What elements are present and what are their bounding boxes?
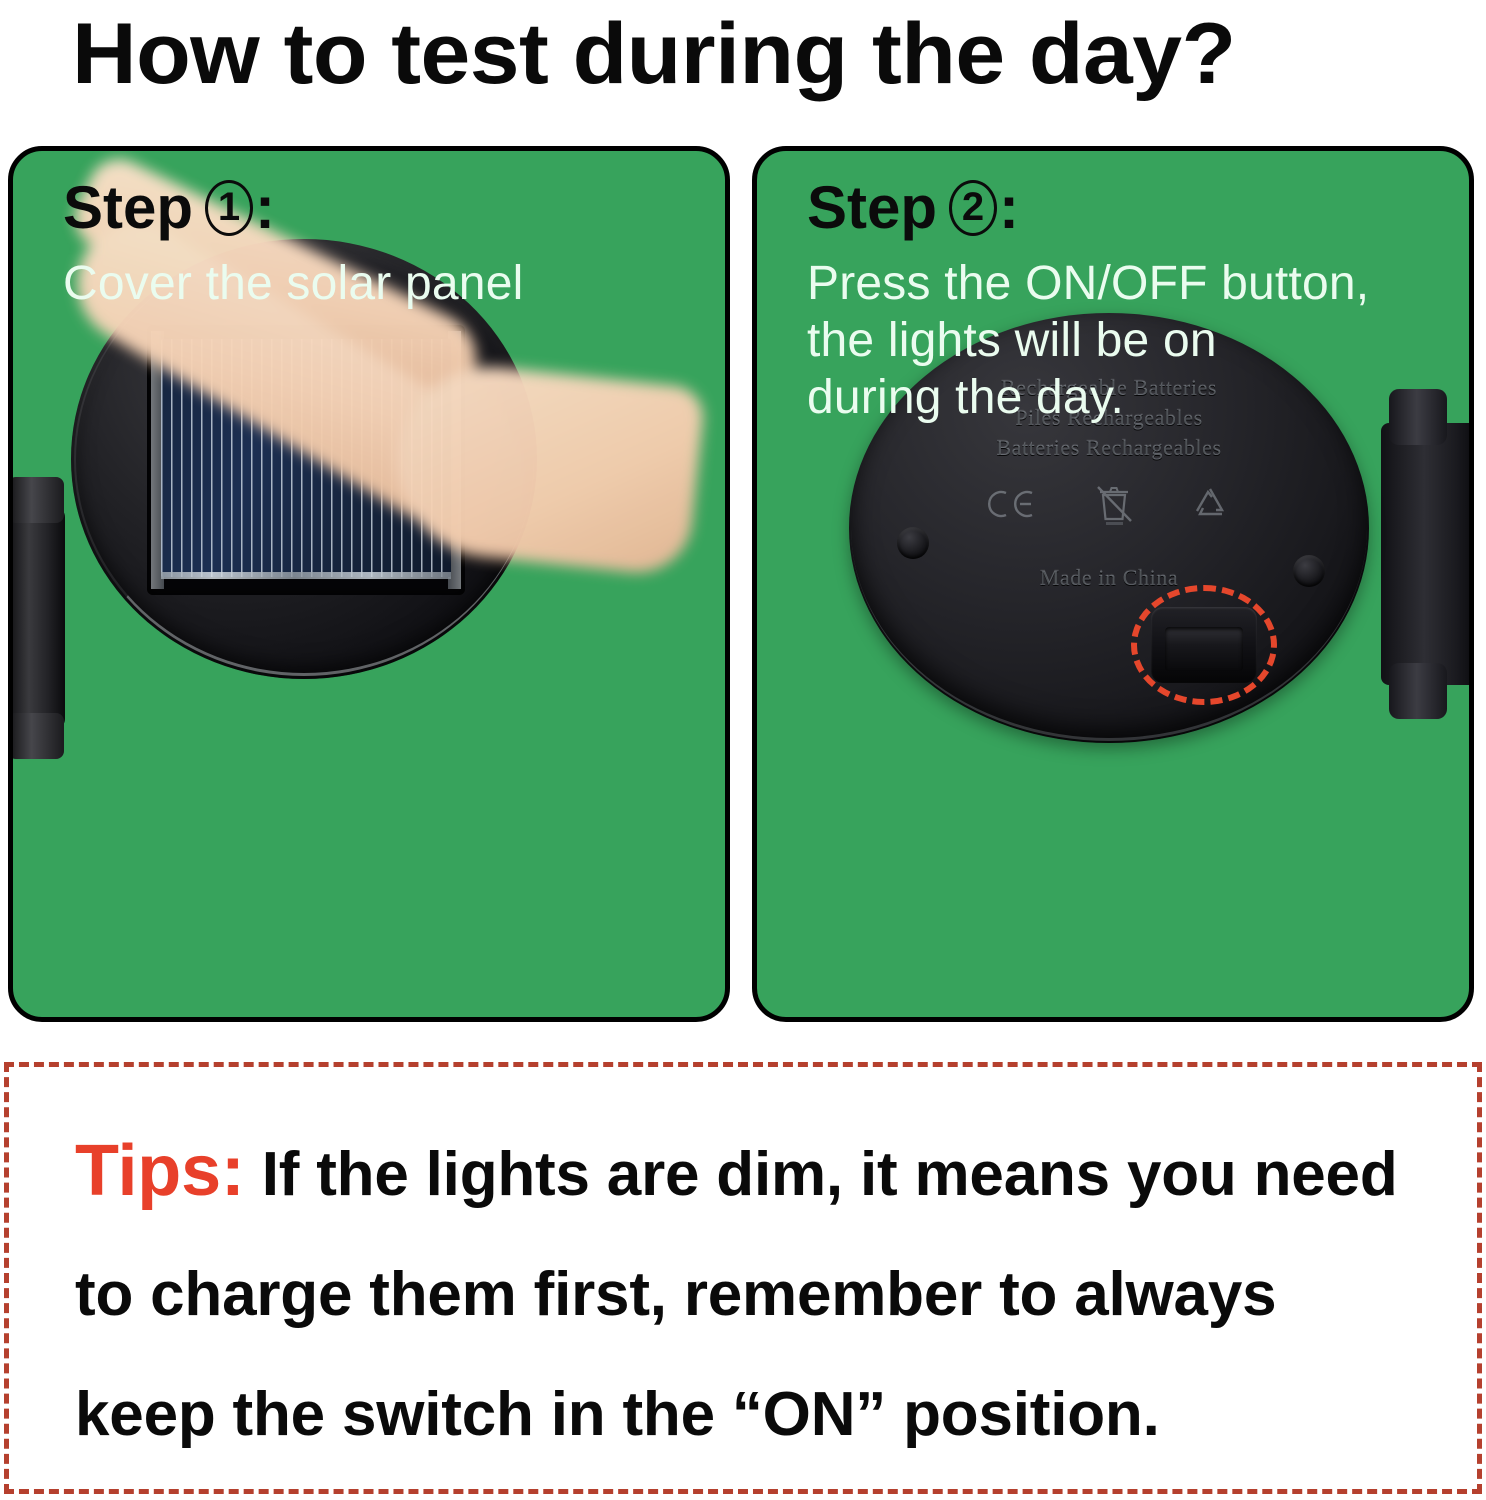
compliance-symbols-row [849, 481, 1369, 527]
step-2-panel: Rechargeable Batteries Piles Rechargeabl… [752, 146, 1474, 1022]
ce-mark-icon [986, 487, 1040, 521]
step-2-number-badge: 2 [949, 180, 997, 236]
step-2-label: Step [807, 171, 937, 245]
step-2-colon: : [999, 171, 1019, 245]
step-2-body: Press the ON/OFF button, the lights will… [807, 255, 1447, 426]
step-1-panel: Step 1 : Cover the solar panel [8, 146, 730, 1022]
tips-line-1: Tips: If the lights are dim, it means yo… [75, 1111, 1435, 1235]
step-1-number-badge: 1 [205, 180, 253, 236]
emboss-line-3: Batteries Rechargeables [849, 435, 1369, 461]
recycling-triangle-icon [1188, 484, 1232, 524]
step-2-body-line-3: during the day. [807, 369, 1447, 426]
made-in-china-text: Made in China [849, 565, 1369, 591]
step-2-heading: Step 2 : [807, 171, 1019, 245]
tips-box: Tips: If the lights are dim, it means yo… [4, 1062, 1482, 1494]
mounting-bracket-icon [1381, 423, 1474, 685]
tips-content: Tips: If the lights are dim, it means yo… [75, 1111, 1435, 1475]
step-1-colon: : [255, 171, 275, 245]
screw-hole-right [1293, 555, 1325, 587]
tips-line-3: keep the switch in the “ON” position. [75, 1355, 1435, 1475]
tips-label: Tips: [75, 1131, 245, 1211]
step-2-body-line-1: Press the ON/OFF button, [807, 255, 1447, 312]
tips-line-1-text: If the lights are dim, it means you need [262, 1140, 1398, 1209]
hinge-icon [8, 507, 65, 729]
tips-line-2: to charge them first, remember to always [75, 1235, 1435, 1355]
weee-bin-icon [1094, 481, 1134, 527]
palm [388, 358, 706, 578]
on-off-switch[interactable] [1131, 585, 1277, 705]
highlight-ring [1131, 585, 1277, 705]
screw-hole-left [897, 527, 929, 559]
step-1-label: Step [63, 171, 193, 245]
page-title: How to test during the day? [72, 6, 1476, 102]
step-2-body-line-2: the lights will be on [807, 312, 1447, 369]
step-1-body: Cover the solar panel [63, 255, 703, 312]
infographic-page: How to test during the day? Step [0, 0, 1486, 1500]
step-1-heading: Step 1 : [63, 171, 275, 245]
solar-busbar [161, 572, 451, 579]
step-1-body-line-1: Cover the solar panel [63, 255, 703, 312]
